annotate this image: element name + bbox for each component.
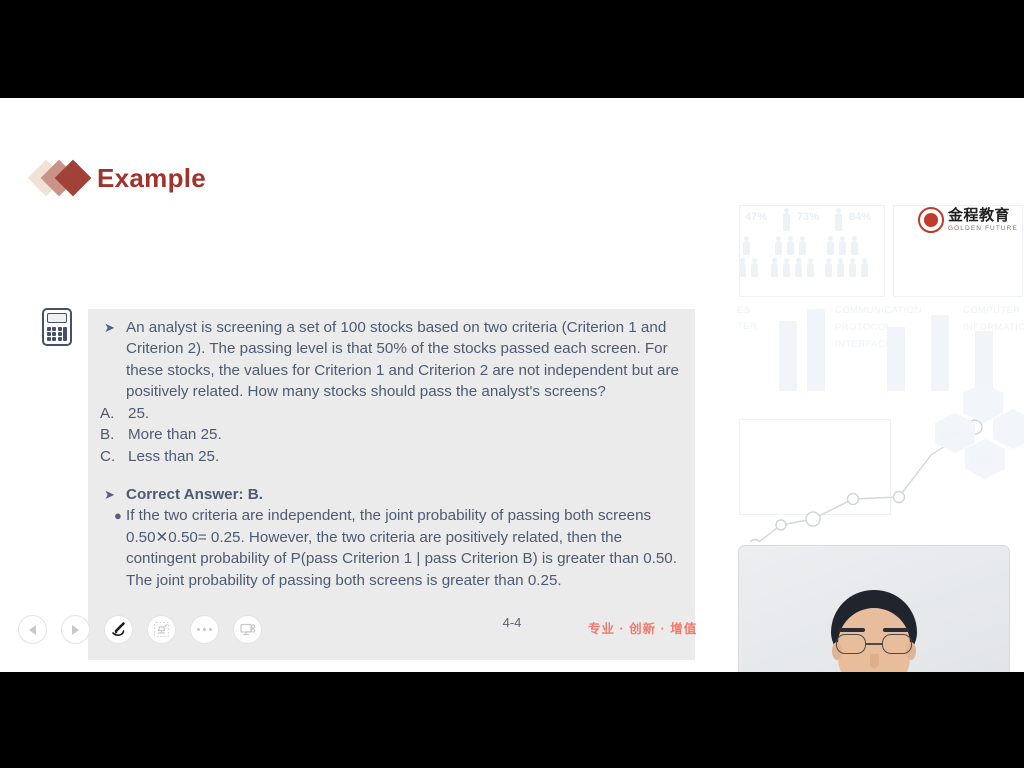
logo-chinese-name: 金程教育	[948, 208, 1018, 223]
arrow-bullet-icon-2: ➤	[100, 484, 126, 505]
deco-hex-1: 72%	[969, 455, 991, 467]
explanation-text: If the two criteria are independent, the…	[126, 505, 681, 591]
correct-answer-heading: Correct Answer: B.	[126, 484, 263, 505]
content-panel: ➤ An analyst is screening a set of 100 s…	[88, 309, 695, 660]
option-a-label: A.	[100, 403, 128, 425]
arrow-bullet-icon: ➤	[100, 317, 126, 403]
question-text: An analyst is screening a set of 100 sto…	[126, 317, 681, 403]
deco-line-chart	[735, 197, 1024, 542]
slide-stage: Example ➤ An analyst is screening a set …	[0, 97, 1024, 673]
explanation-block: ● If the two criteria are independent, t…	[100, 505, 681, 591]
calculator-icon	[42, 308, 72, 346]
brand-logo: 金程教育 GOLDEN FUTURE	[918, 207, 1018, 233]
page-title: Example	[97, 163, 206, 194]
option-b: B. More than 25.	[100, 424, 681, 446]
brand-slogan: 专业 · 创新 · 增值	[588, 618, 697, 637]
option-c-text: Less than 25.	[128, 446, 219, 468]
option-a: A. 25.	[100, 403, 681, 425]
option-a-text: 25.	[128, 403, 149, 425]
page-number: 4-4	[0, 615, 1024, 630]
option-b-label: B.	[100, 424, 128, 446]
diamond-ornament-icon	[33, 158, 93, 198]
letterbox-bottom	[0, 672, 1024, 768]
letterbox-top	[0, 0, 1024, 98]
answer-heading-block: ➤ Correct Answer: B.	[100, 484, 681, 505]
decorative-infographic: 47% 73% 84% ES TER COMMUNICATION	[735, 197, 1024, 542]
deco-hex-0: 40%	[939, 429, 961, 441]
slide-title-row: Example	[33, 158, 206, 198]
logo-english-name: GOLDEN FUTURE	[948, 224, 1018, 233]
screen-recording: Example ➤ An analyst is screening a set …	[0, 0, 1024, 768]
option-c-label: C.	[100, 446, 128, 468]
option-b-text: More than 25.	[128, 424, 222, 446]
option-c: C. Less than 25.	[100, 446, 681, 468]
answer-options: A. 25. B. More than 25. C. Less than 25.	[100, 403, 681, 468]
instructor-video-feed[interactable]	[739, 546, 1009, 673]
dot-bullet-icon: ●	[100, 505, 126, 591]
logo-seal-icon	[918, 207, 944, 233]
question-block: ➤ An analyst is screening a set of 100 s…	[100, 317, 681, 403]
